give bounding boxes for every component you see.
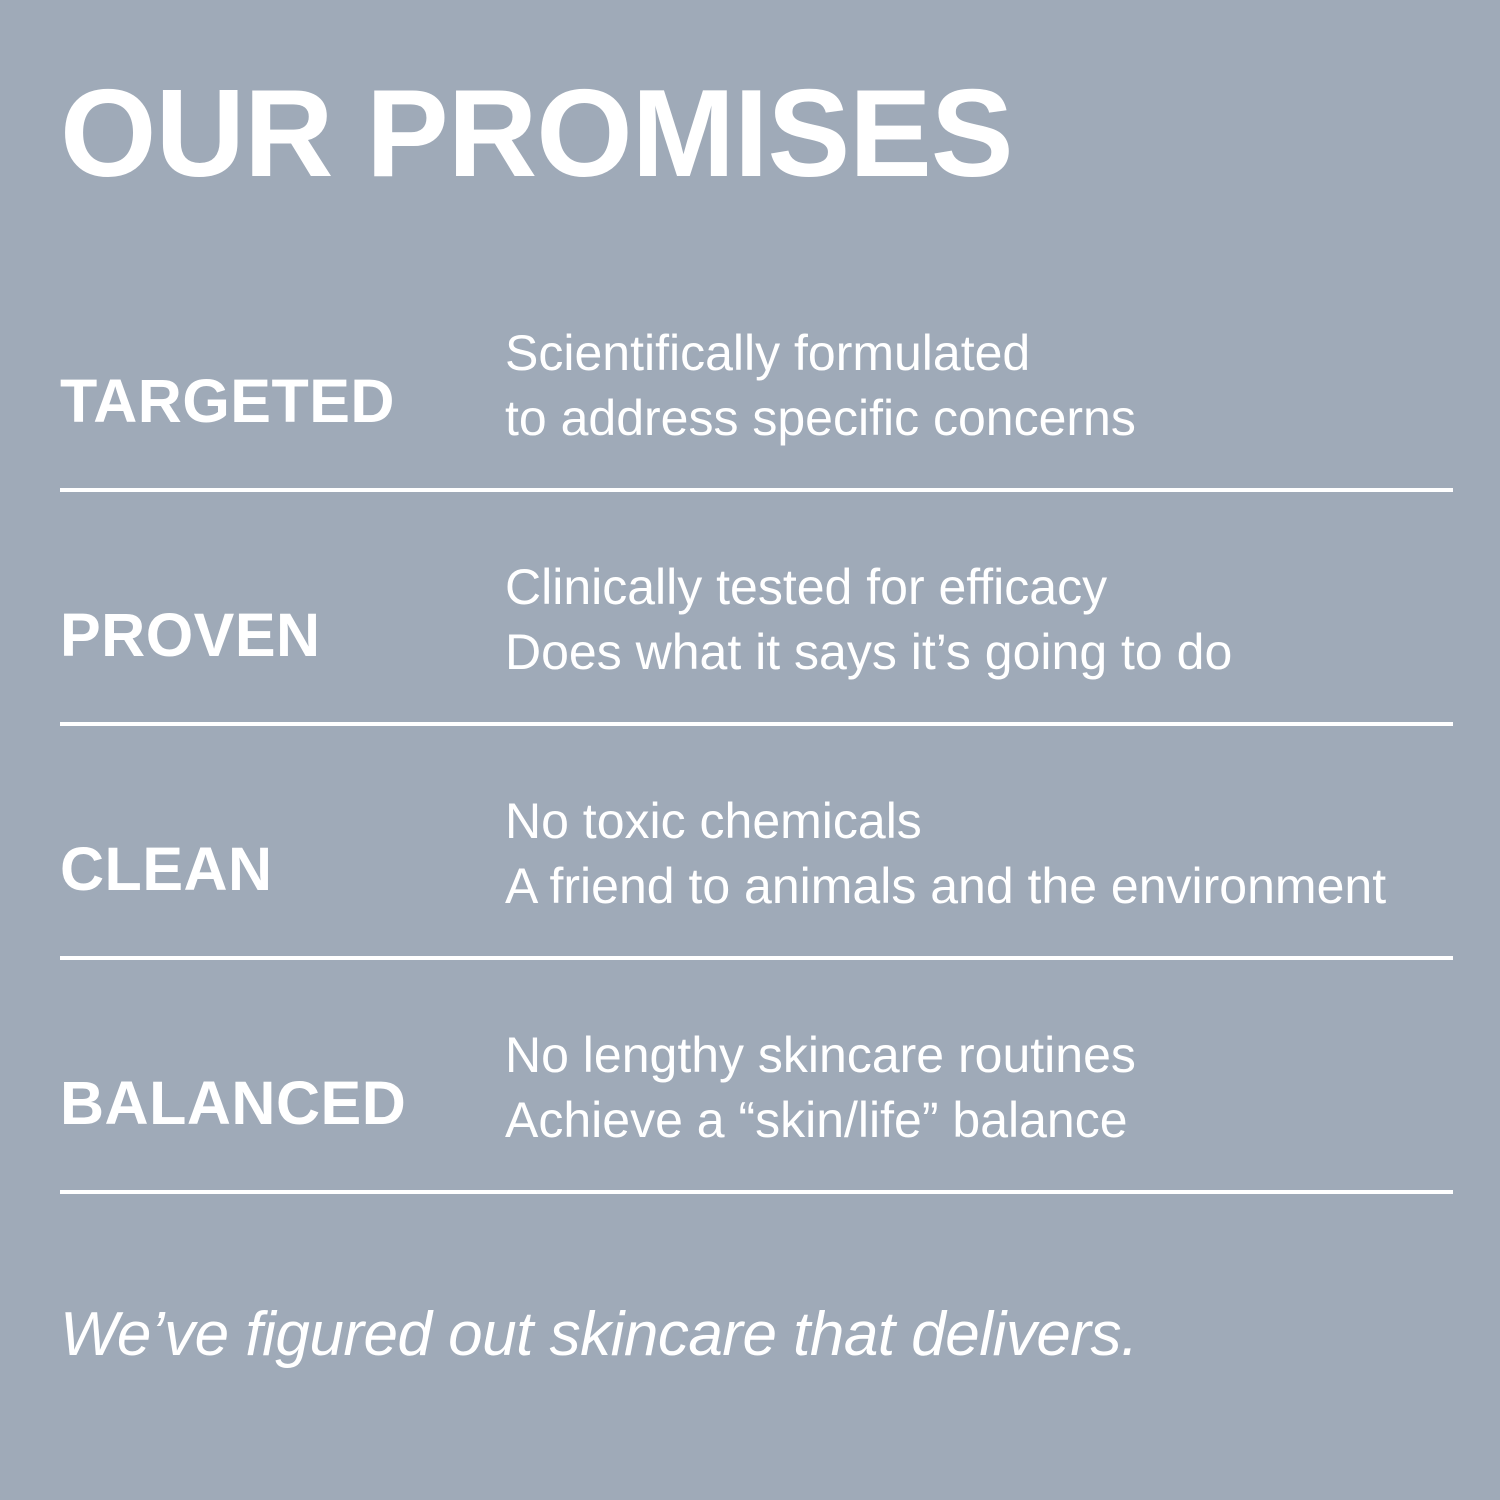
promise-row-targeted: TARGETED Scientifically formulated to ad… [0,258,1500,492]
promise-content: TARGETED Scientifically formulated to ad… [60,258,1453,492]
promise-description-line: Scientifically formulated [505,321,1453,386]
promise-label-clean: CLEAN [60,839,505,960]
promise-description-line: to address specific concerns [505,386,1453,451]
footer-tagline: We’ve figured out skincare that delivers… [60,1301,1138,1369]
promise-description-line: A friend to animals and the environment [505,854,1453,919]
promise-label-balanced: BALANCED [60,1073,505,1194]
promise-description-line: No toxic chemicals [505,789,1453,854]
promise-content: BALANCED No lengthy skincare routines Ac… [60,960,1453,1194]
promise-label-proven: PROVEN [60,605,505,726]
promise-description-targeted: Scientifically formulated to address spe… [505,321,1453,492]
promise-content: CLEAN No toxic chemicals A friend to ani… [60,726,1453,960]
promise-label-targeted: TARGETED [60,371,505,492]
promises-poster: OUR PROMISES TARGETED Scientifically for… [0,0,1500,1500]
promise-row-proven: PROVEN Clinically tested for efficacy Do… [0,492,1500,726]
promise-description-line: Clinically tested for efficacy [505,555,1453,620]
promise-list: TARGETED Scientifically formulated to ad… [0,258,1500,1194]
divider-rule [60,1190,1453,1194]
promise-description-clean: No toxic chemicals A friend to animals a… [505,789,1453,960]
promise-description-line: Does what it says it’s going to do [505,620,1453,685]
promise-row-balanced: BALANCED No lengthy skincare routines Ac… [0,960,1500,1194]
promise-description-line: Achieve a “skin/life” balance [505,1088,1453,1153]
promise-content: PROVEN Clinically tested for efficacy Do… [60,492,1453,726]
promise-description-line: No lengthy skincare routines [505,1023,1453,1088]
promise-description-proven: Clinically tested for efficacy Does what… [505,555,1453,726]
page-title: OUR PROMISES [60,72,1013,196]
promise-row-clean: CLEAN No toxic chemicals A friend to ani… [0,726,1500,960]
promise-description-balanced: No lengthy skincare routines Achieve a “… [505,1023,1453,1194]
